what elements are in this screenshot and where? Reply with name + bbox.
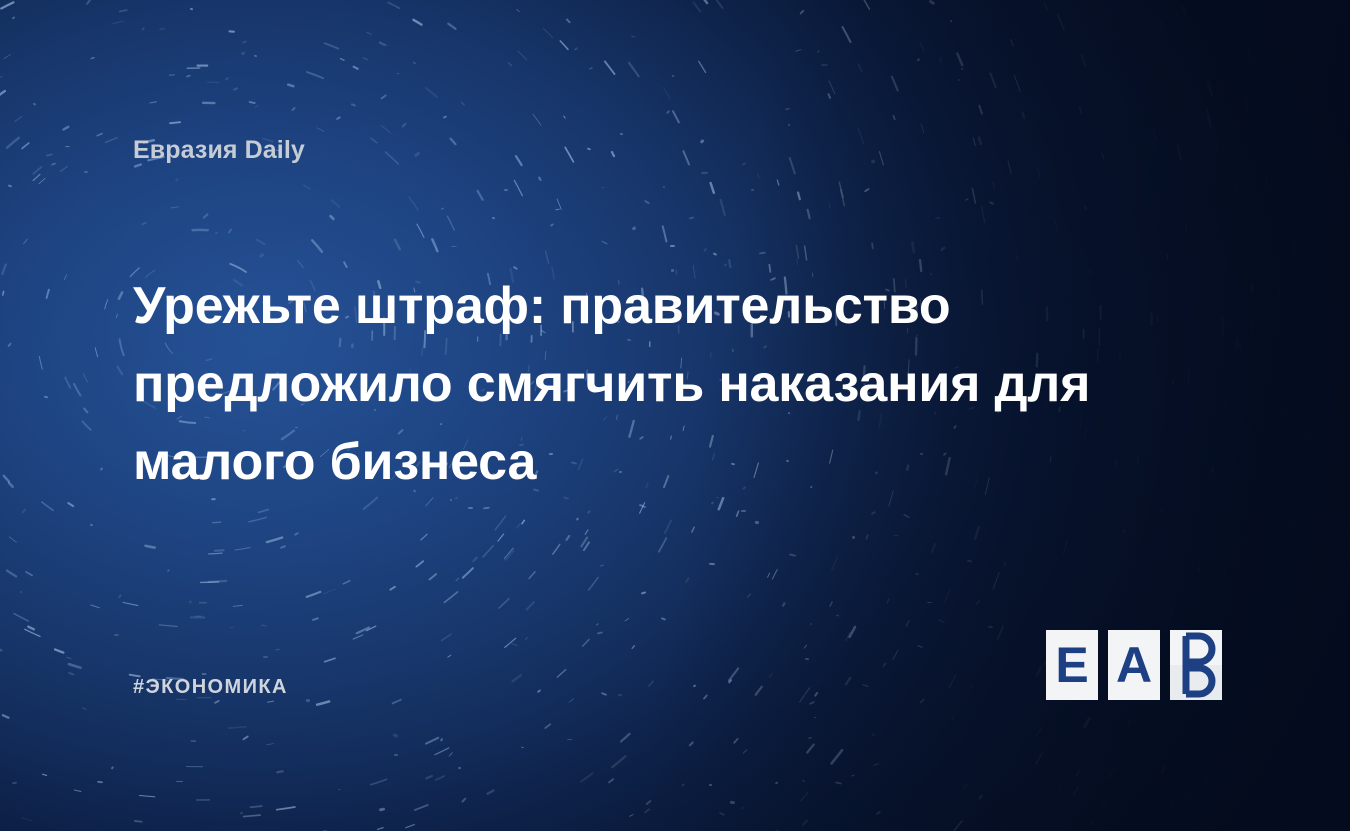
logo-letter-a: A: [1108, 630, 1160, 700]
logo-d-lower-half: [1170, 665, 1222, 700]
eadaily-logo: E A: [1046, 630, 1224, 700]
logo-d-upper-half: [1170, 630, 1222, 665]
logo-tile-e: E: [1046, 630, 1098, 700]
category-tag: #ЭКОНОМИКА: [133, 676, 288, 699]
logo-tile-a: A: [1108, 630, 1160, 700]
brand-label: Евразия Daily: [133, 136, 305, 165]
page-title: Урежьте штраф: правительство предложило …: [133, 267, 1163, 501]
news-cover-card: Евразия Daily Урежьте штраф: правительст…: [0, 0, 1350, 831]
logo-tile-d-split: [1170, 630, 1222, 700]
logo-letter-e: E: [1046, 630, 1098, 700]
